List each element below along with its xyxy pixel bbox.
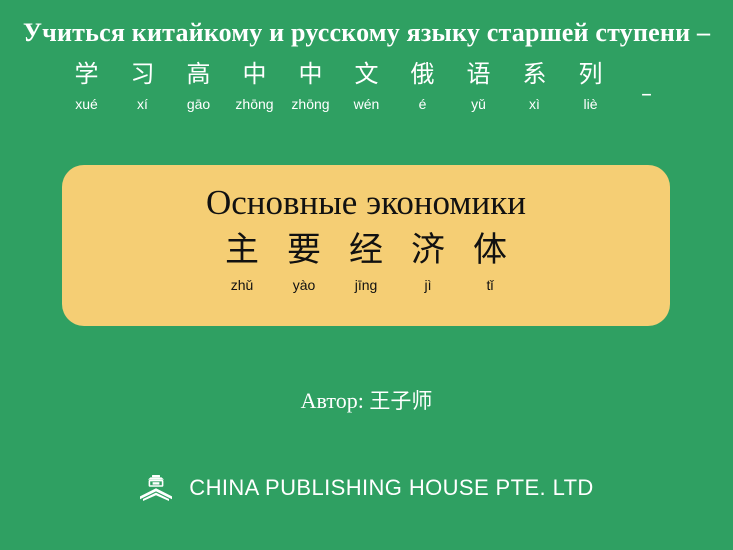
author-label: Автор:: [301, 388, 364, 413]
series-char-10: –: [641, 82, 652, 108]
series-cell-8: 系xì: [507, 60, 563, 114]
card-chinese-row: 主zhǔ要yào经jīng济jì体tǐ: [211, 229, 521, 293]
series-title-russian: Учиться китайкому и русскому языку старш…: [0, 18, 733, 48]
series-cell-1: 习xí: [115, 60, 171, 114]
publisher-name: CHINA PUBLISHING HOUSE PTE. LTD: [189, 475, 593, 501]
series-char-3: 中: [243, 60, 267, 89]
series-cell-4: 中zhōng: [283, 60, 339, 114]
series-char-9: 列: [579, 60, 603, 89]
series-pinyin-6: é: [419, 95, 427, 115]
series-cell-9: 列liè: [563, 60, 619, 114]
card-char-4: 体: [473, 229, 507, 272]
series-cell-5: 文wén: [339, 60, 395, 114]
series-chinese-row: 学xué习xí高gāo中zhōng中zhōng文wén俄é语yǔ系xì列liè–: [0, 60, 733, 114]
series-cell-10: –: [619, 82, 675, 114]
series-pinyin-1: xí: [137, 95, 148, 115]
card-char-3: 济: [411, 229, 445, 272]
card-pinyin-0: zhǔ: [231, 277, 254, 294]
card-cell-0: 主zhǔ: [211, 229, 273, 293]
series-pinyin-7: yǔ: [471, 95, 486, 115]
author-name: 王子师: [369, 389, 432, 413]
card-char-2: 经: [349, 229, 383, 272]
card-cell-4: 体tǐ: [459, 229, 521, 293]
series-pinyin-4: zhōng: [291, 95, 329, 115]
card-cell-1: 要yào: [273, 229, 335, 293]
series-char-7: 语: [467, 60, 491, 89]
series-char-6: 俄: [411, 60, 435, 89]
series-pinyin-3: zhōng: [235, 95, 273, 115]
series-cell-0: 学xué: [59, 60, 115, 114]
header-block: Учиться китайкому и русскому языку старш…: [0, 18, 733, 114]
series-cell-6: 俄é: [395, 60, 451, 114]
card-cell-2: 经jīng: [335, 229, 397, 293]
publisher-footer: CHINA PUBLISHING HOUSE PTE. LTD: [0, 473, 733, 503]
card-pinyin-2: jīng: [355, 277, 378, 294]
author-line: Автор: 王子师: [0, 388, 733, 414]
card-title-russian: Основные экономики: [206, 183, 526, 223]
series-pinyin-9: liè: [583, 95, 597, 115]
card-pinyin-4: tǐ: [487, 277, 494, 294]
card-pinyin-3: jì: [425, 277, 432, 294]
series-pinyin-5: wén: [354, 95, 380, 115]
series-cell-2: 高gāo: [171, 60, 227, 114]
series-char-0: 学: [75, 60, 99, 89]
card-cell-3: 济jì: [397, 229, 459, 293]
pagoda-book-icon: [139, 473, 173, 503]
series-char-4: 中: [299, 60, 323, 89]
title-card: Основные экономики 主zhǔ要yào经jīng济jì体tǐ: [62, 165, 670, 326]
series-cell-3: 中zhōng: [227, 60, 283, 114]
series-char-8: 系: [523, 60, 547, 89]
series-char-1: 习: [131, 60, 155, 89]
series-pinyin-2: gāo: [187, 95, 210, 115]
card-pinyin-1: yào: [293, 277, 316, 294]
series-char-5: 文: [355, 60, 379, 89]
series-char-2: 高: [187, 60, 211, 89]
card-char-0: 主: [225, 229, 259, 272]
card-char-1: 要: [287, 229, 321, 272]
series-cell-7: 语yǔ: [451, 60, 507, 114]
slide-root: Учиться китайкому и русскому языку старш…: [0, 0, 733, 550]
series-pinyin-0: xué: [75, 95, 98, 115]
series-pinyin-8: xì: [529, 95, 540, 115]
